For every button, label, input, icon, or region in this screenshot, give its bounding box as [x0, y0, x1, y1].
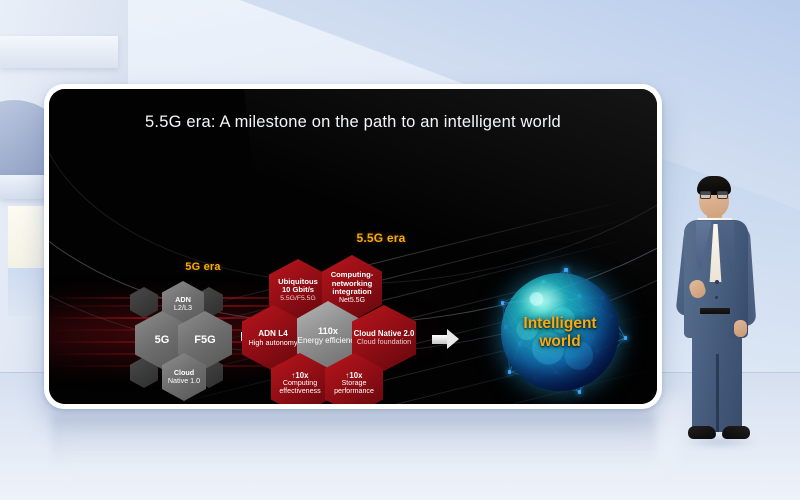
hex-subtitle: High autonomy: [248, 339, 297, 347]
network-node: [508, 370, 511, 373]
glasses-icon: [700, 191, 728, 199]
presenter: [672, 168, 764, 454]
slide-title: 5.5G era: A milestone on the path to an …: [49, 113, 657, 132]
hex-subtitle: Native 1.0: [168, 377, 200, 385]
hex-title: F5G: [194, 334, 215, 346]
globe-label: Intelligentworld: [481, 315, 639, 351]
hex-subtitle: 5.5G/F5.5G: [280, 295, 316, 303]
hex-title: Ubiquitous10 Gbit/s: [278, 278, 318, 295]
hex-subtitle: Cloud foundation: [357, 338, 411, 346]
hex-title: 5G: [155, 334, 170, 346]
arrow-55g-to-globe: [432, 329, 460, 350]
network-node: [501, 301, 504, 304]
screen-floor-reflection: [52, 414, 656, 468]
hex-subtitle: L2/L3: [174, 304, 192, 312]
globe-highlight: [520, 284, 567, 315]
hex-subtitle: Net5.5G: [339, 297, 365, 305]
intelligent-world-globe: Intelligentworld: [481, 265, 639, 404]
presentation-screen: 5.5G era: A milestone on the path to an …: [49, 89, 657, 404]
hex-title: Computing-networkingintegration: [331, 271, 374, 297]
studio-doorway-lower: [8, 268, 46, 316]
studio-ledge-upper: [0, 36, 118, 68]
presenter-resting-hand: [734, 320, 747, 337]
hex-subtitle: Computingeffectiveness: [279, 380, 320, 396]
era-55g-label: 5.5G era: [311, 231, 451, 245]
presenter-belt: [700, 308, 730, 314]
presenter-shoe-left: [688, 426, 716, 439]
era-5g-label: 5G era: [155, 261, 251, 273]
presenter-shoe-right: [722, 426, 750, 439]
network-node: [578, 390, 581, 393]
presenter-trouser-crease: [716, 354, 719, 432]
hex-subtitle: Energy efficiency: [298, 337, 359, 346]
hex-subtitle: Storageperformance: [334, 380, 374, 396]
presenter-jacket-button: [715, 280, 719, 284]
presentation-screen-frame: 5.5G era: A milestone on the path to an …: [44, 84, 662, 409]
network-node: [564, 268, 567, 271]
